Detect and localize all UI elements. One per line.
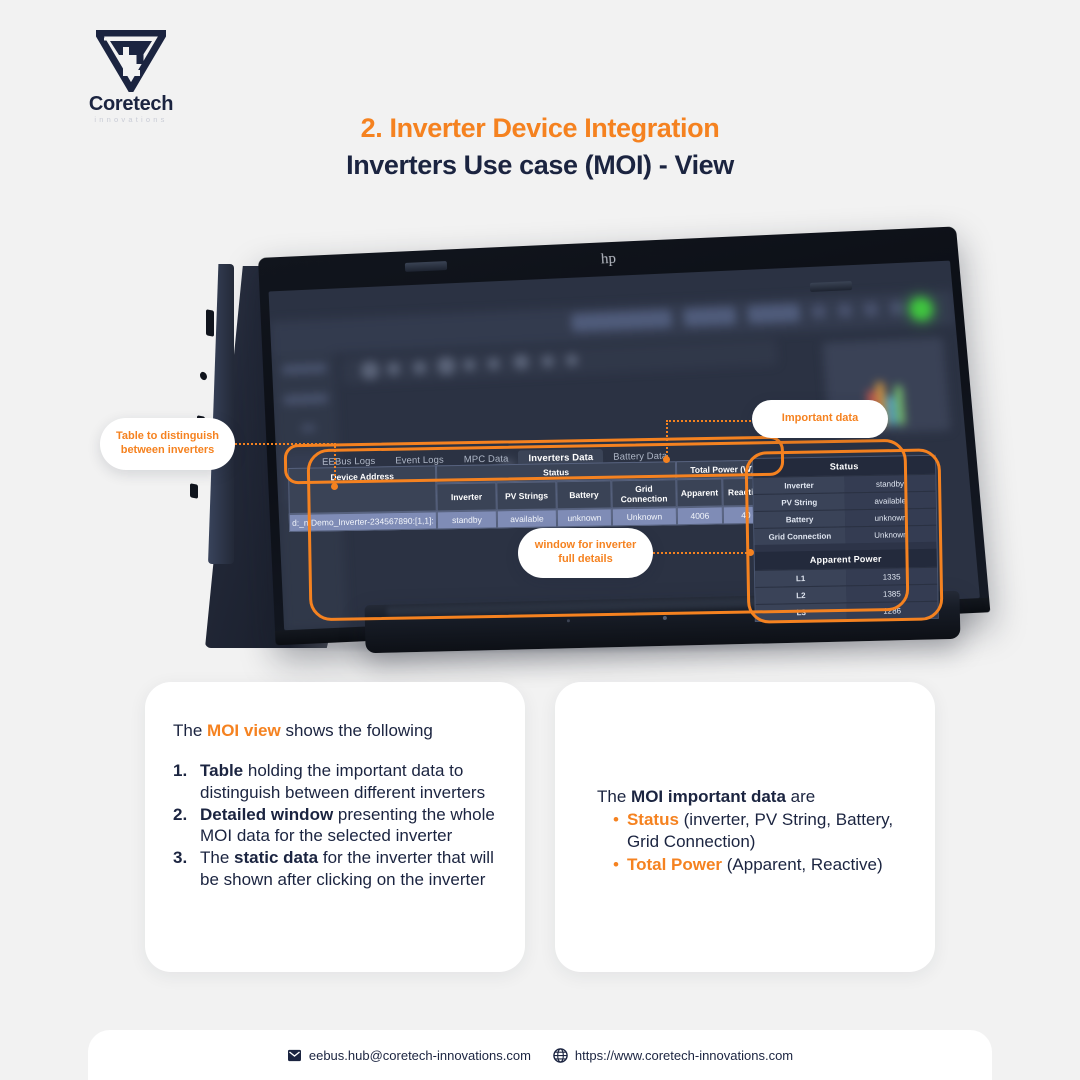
globe-icon xyxy=(553,1048,568,1063)
list-text: Detailed window presenting the whole MOI… xyxy=(200,804,499,848)
bullet-icon: • xyxy=(613,854,619,876)
right-card-lead: The MOI important data are xyxy=(597,786,909,808)
list-text: The static data for the inverter that wi… xyxy=(200,847,499,891)
footer-website-text: https://www.coretech-innovations.com xyxy=(575,1048,793,1063)
connector-important-vertical xyxy=(666,420,668,460)
list-item: • Status (inverter, PV String, Battery, … xyxy=(597,809,909,853)
bullet-rest: (Apparent, Reactive) xyxy=(722,855,883,874)
list-text: Table holding the important data to dist… xyxy=(200,760,499,804)
footer-email[interactable]: eebus.hub@coretech-innovations.com xyxy=(287,1048,531,1063)
lead-suffix: shows the following xyxy=(281,721,433,740)
bullet-text: Status (inverter, PV String, Battery, Gr… xyxy=(627,809,909,853)
list-item: 2. Detailed window presenting the whole … xyxy=(173,804,499,848)
bullet-icon: • xyxy=(613,809,619,853)
list-number: 2. xyxy=(173,804,193,848)
list-item: 3. The static data for the inverter that… xyxy=(173,847,499,891)
right-lead-prefix: The xyxy=(597,787,631,806)
bullet-accent: Status xyxy=(627,810,679,829)
bullet-text: Total Power (Apparent, Reactive) xyxy=(627,854,883,876)
poster-page: Coretech innovations 2. Inverter Device … xyxy=(0,0,1080,1080)
connector-table xyxy=(232,443,336,445)
list-item: • Total Power (Apparent, Reactive) xyxy=(597,854,909,876)
lead-accent: MOI view xyxy=(207,721,281,740)
list-number: 3. xyxy=(173,847,193,891)
bullet-accent: Total Power xyxy=(627,855,722,874)
list-pre: The xyxy=(200,848,234,867)
highlight-important-data xyxy=(745,448,944,623)
right-lead-suffix: are xyxy=(786,787,815,806)
connector-important xyxy=(666,420,758,422)
footer-bar: eebus.hub@coretech-innovations.com https… xyxy=(88,1030,992,1080)
connector-window xyxy=(650,552,750,554)
connector-dot xyxy=(747,549,754,556)
right-lead-bold: MOI important data xyxy=(631,787,786,806)
connector-dot xyxy=(331,483,338,490)
connector-dot xyxy=(663,456,670,463)
list-rest: holding the important data to distinguis… xyxy=(200,761,485,802)
list-item: 1. Table holding the important data to d… xyxy=(173,760,499,804)
connector-table-vertical xyxy=(334,443,336,487)
footer-email-text: eebus.hub@coretech-innovations.com xyxy=(309,1048,531,1063)
right-info-card: The MOI important data are • Status (inv… xyxy=(555,682,935,972)
list-bold: Detailed window xyxy=(200,805,333,824)
list-bold: Table xyxy=(200,761,243,780)
list-bold: static data xyxy=(234,848,318,867)
right-card-list: • Status (inverter, PV String, Battery, … xyxy=(597,809,909,876)
callout-important-data: Important data xyxy=(752,400,888,438)
footer-website[interactable]: https://www.coretech-innovations.com xyxy=(553,1048,793,1063)
left-info-card: The MOI view shows the following 1. Tabl… xyxy=(145,682,525,972)
lead-prefix: The xyxy=(173,721,207,740)
callout-table: Table to distinguish between inverters xyxy=(100,418,235,470)
list-number: 1. xyxy=(173,760,193,804)
callout-window: window for inverter full details xyxy=(518,528,653,578)
email-icon xyxy=(287,1049,302,1062)
left-card-lead: The MOI view shows the following xyxy=(173,720,499,742)
left-card-list: 1. Table holding the important data to d… xyxy=(173,760,499,891)
